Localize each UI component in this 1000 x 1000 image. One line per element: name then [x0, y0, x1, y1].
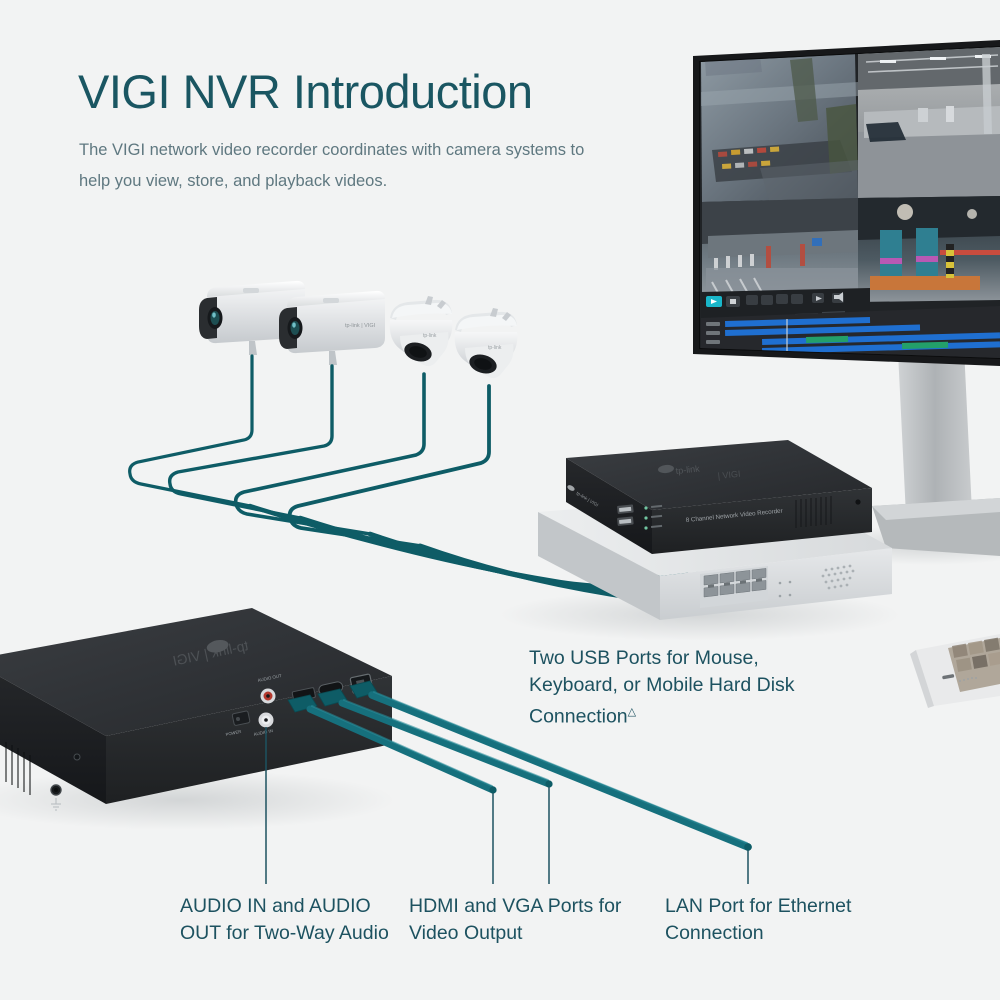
channel-top-left — [701, 54, 858, 204]
callout-usb-superscript: △ — [628, 706, 636, 718]
nvr-rear-screw-left — [74, 754, 80, 760]
smartphone — [910, 634, 1000, 708]
channel-top-right — [858, 47, 1000, 198]
camera-turret-2: tp-link — [455, 308, 518, 378]
scene-root: tp-link | VIGI tp-link tp-link — [0, 0, 1000, 1000]
callout-lan: LAN Port for Ethernet Connection — [665, 893, 910, 947]
page-title: VIGI NVR Introduction — [78, 64, 532, 119]
svg-text:tp-link: tp-link — [423, 333, 437, 339]
callout-usb-text: Two USB Ports for Mouse, Keyboard, or Mo… — [529, 647, 795, 728]
monitor-stand-neck — [898, 348, 972, 516]
page-subtitle: The VIGI network video recorder coordina… — [79, 135, 619, 197]
camera-turret-1: tp-link — [390, 296, 453, 366]
channel-bottom-right — [858, 196, 1000, 302]
callout-hdmi: HDMI and VGA Ports for Video Output — [409, 893, 649, 947]
callout-usb: Two USB Ports for Mouse, Keyboard, or Mo… — [529, 645, 829, 731]
callout-audio: AUDIO IN and AUDIO OUT for Two-Way Audio — [180, 893, 390, 947]
camera-bullet-2: tp-link | VIGI — [279, 291, 385, 365]
power-port[interactable] — [232, 711, 250, 726]
svg-text:tp-link: tp-link — [488, 345, 502, 351]
nvr-front-screw — [855, 499, 860, 504]
camera-cable-1 — [130, 356, 252, 506]
svg-text:tp-link | VIGI: tp-link | VIGI — [345, 323, 376, 329]
monitor-screen — [690, 40, 1000, 370]
